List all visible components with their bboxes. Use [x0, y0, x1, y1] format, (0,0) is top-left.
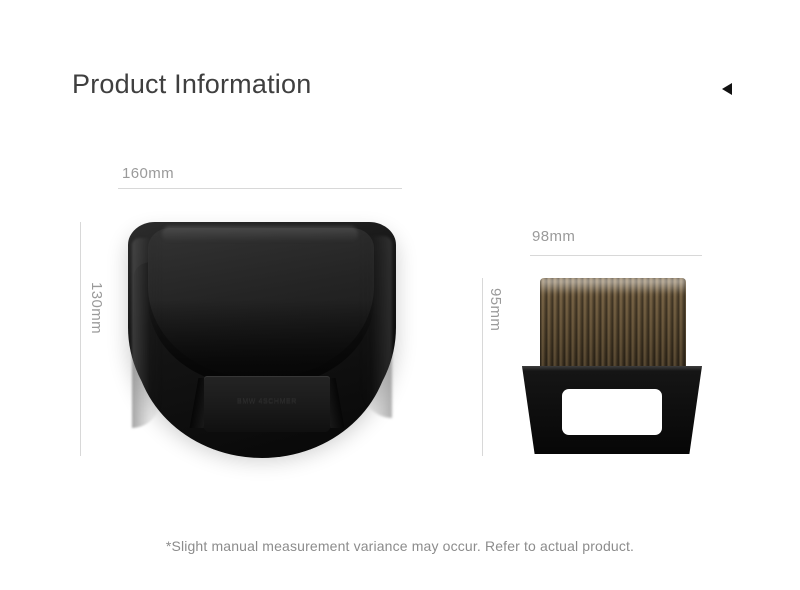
- case-right-rim-highlight: [360, 236, 392, 418]
- case-width-label: 160mm: [122, 165, 174, 182]
- brush-handle-cutout: [562, 389, 662, 435]
- case-left-rim-highlight: [132, 238, 162, 428]
- page-title: Product Information: [72, 68, 311, 100]
- triangle-left-icon: [721, 82, 733, 96]
- case-width-rule: [118, 188, 402, 189]
- product-information-page: Product Information 160mm 130mm BMW 4SCH…: [0, 0, 800, 590]
- previous-arrow-button[interactable]: [718, 80, 736, 98]
- brush-height-label: 95mm: [487, 288, 504, 331]
- product-image-round-case: BMW 4SCHMER: [128, 222, 396, 460]
- case-top-gloss: [162, 226, 358, 242]
- brush-bristle-tips-highlight: [540, 278, 686, 294]
- case-height-label: 130mm: [88, 282, 105, 334]
- case-brand-emboss: BMW 4SCHMER: [204, 398, 330, 405]
- brush-width-label: 98mm: [532, 228, 575, 245]
- brush-handle-top-edge: [522, 366, 702, 371]
- case-height-rule: [80, 222, 81, 456]
- measurement-disclaimer: *Slight manual measurement variance may …: [0, 538, 800, 554]
- brush-height-rule: [482, 278, 483, 456]
- product-image-detailing-brush: [522, 278, 702, 454]
- brush-width-rule: [530, 255, 702, 256]
